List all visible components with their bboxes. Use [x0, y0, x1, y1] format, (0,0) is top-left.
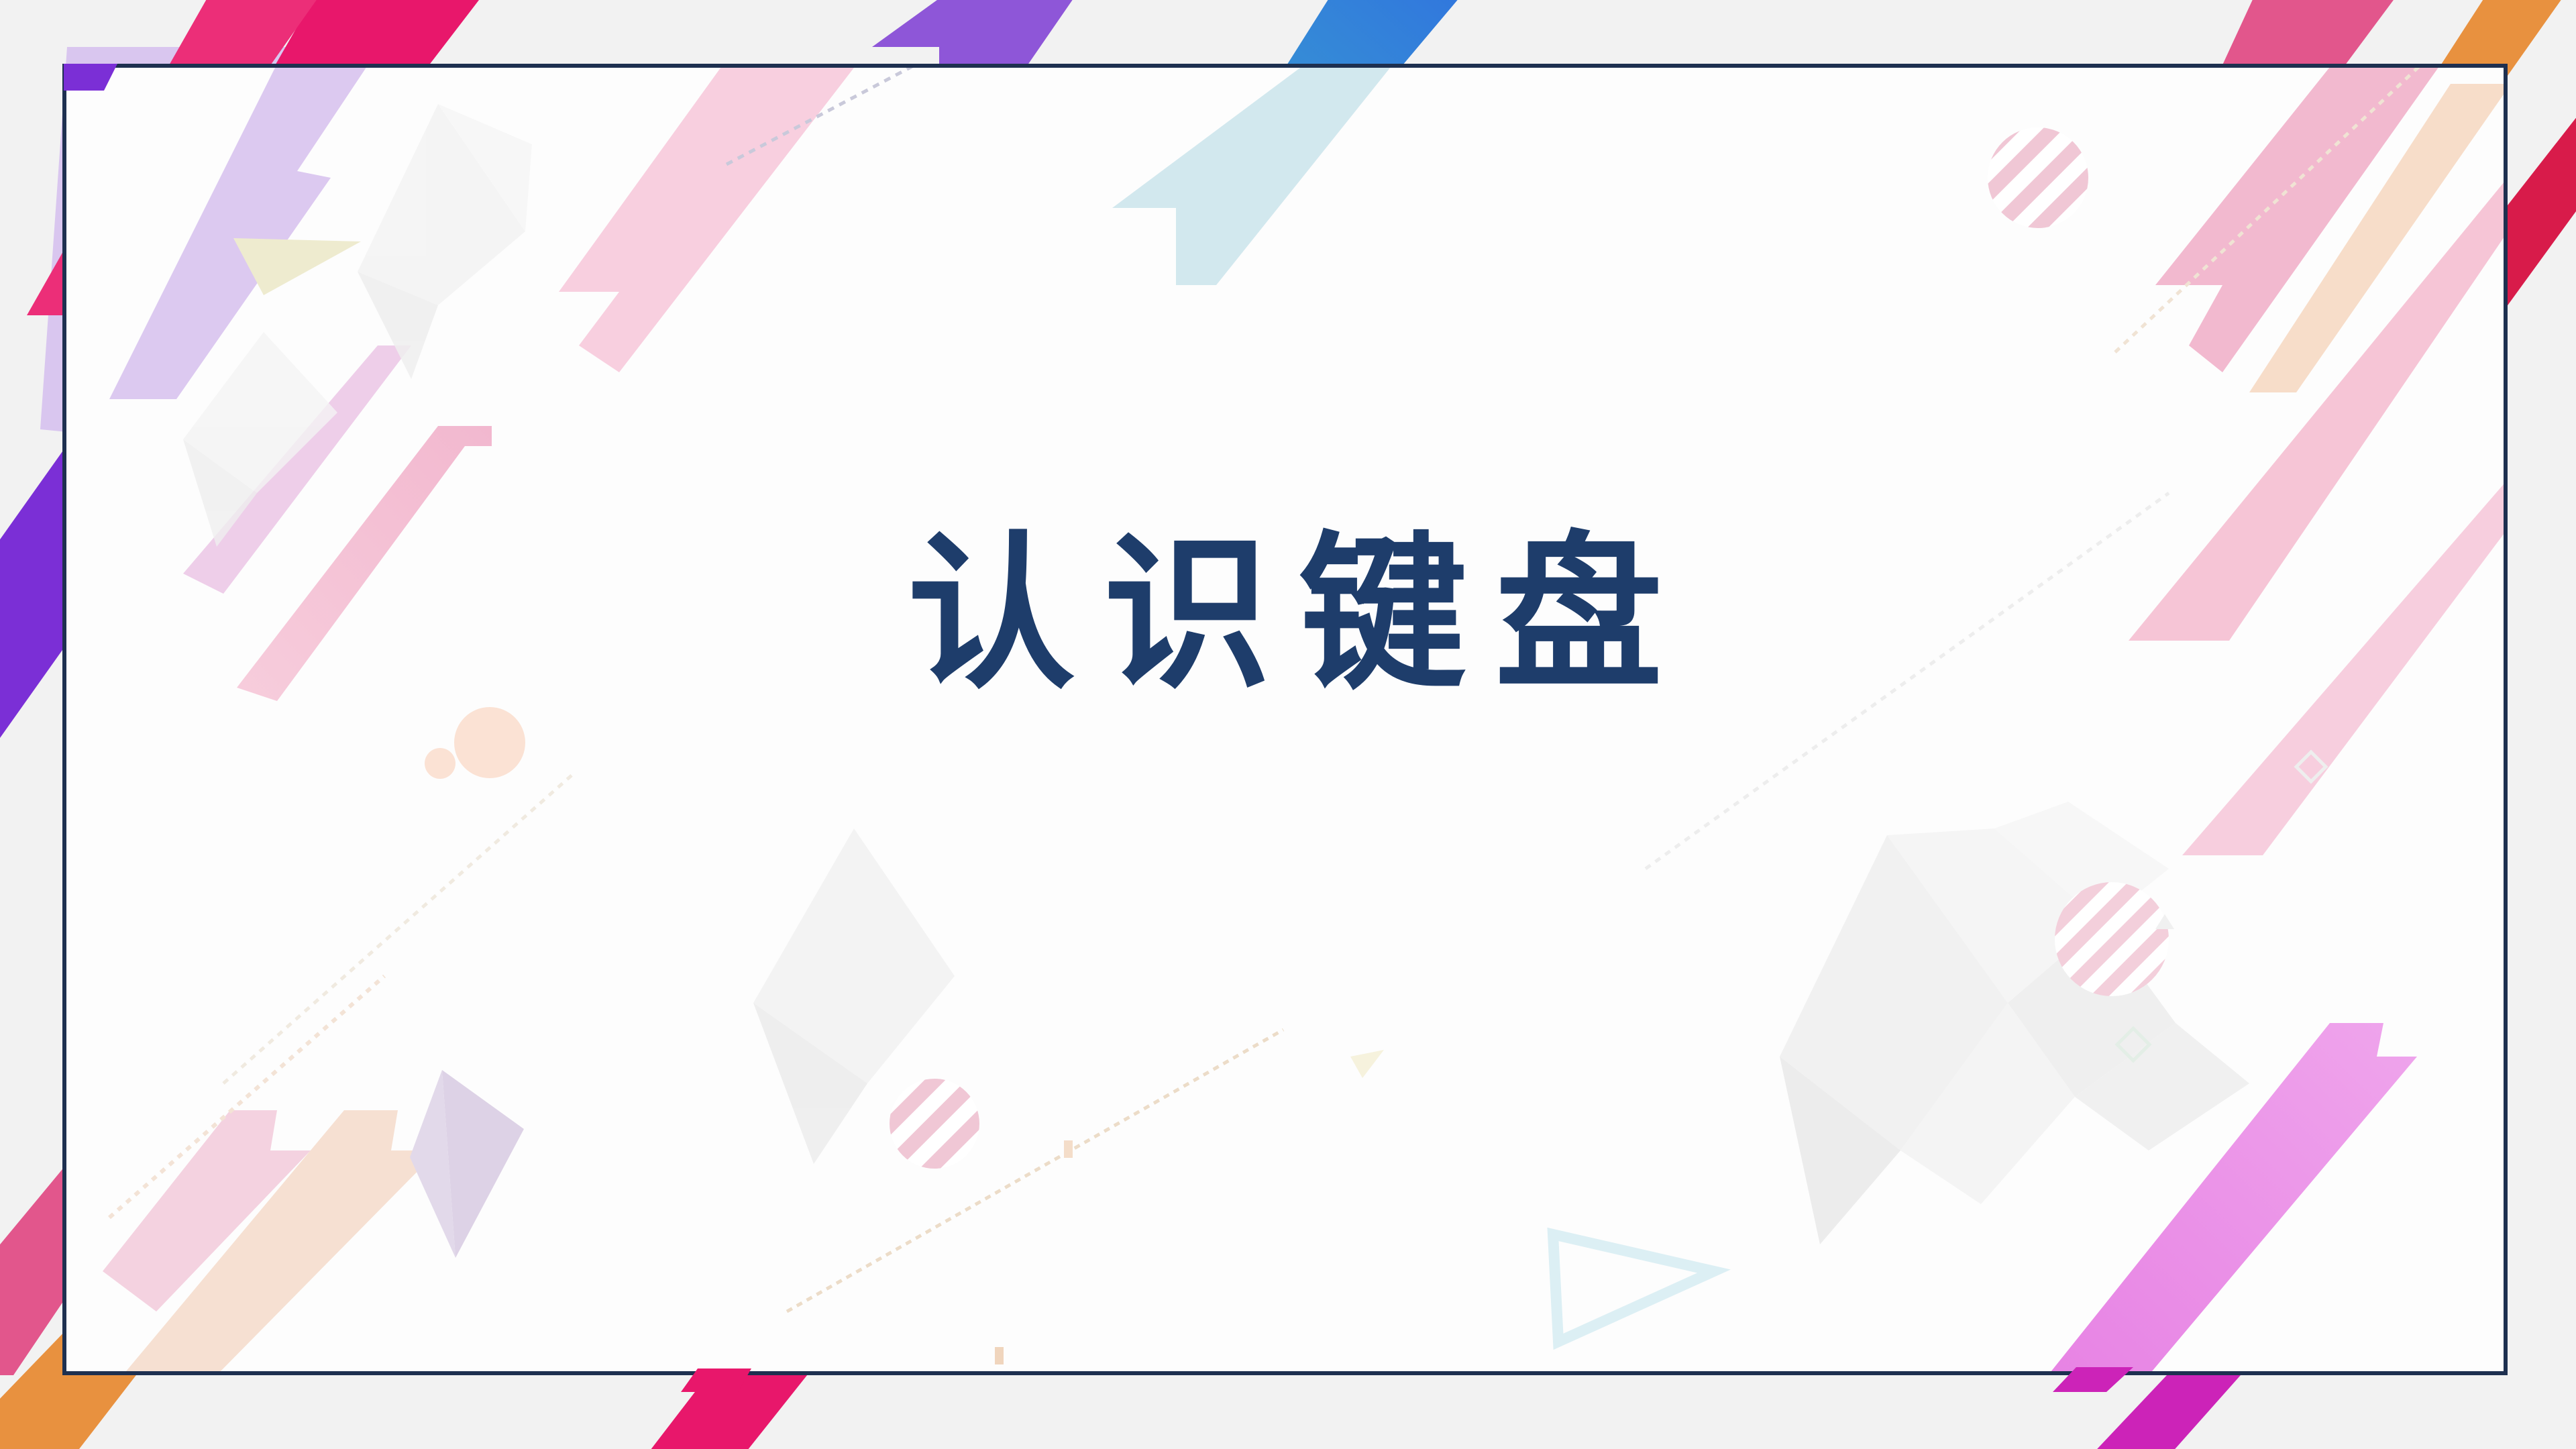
decoration-layer-inner	[62, 64, 2508, 1375]
dotted-line-bottomleft	[223, 775, 572, 1083]
ribbon-purple-bottom-right	[2428, 1382, 2576, 1449]
ribbon-pink-pale-top	[559, 64, 867, 372]
presentation-slide: 认识键盘	[0, 0, 2576, 1449]
dot-mark-2	[995, 1347, 1004, 1364]
dotted-line-right	[1646, 493, 2169, 869]
dot-mark-1	[1064, 1140, 1073, 1158]
ribbon-cyan-top-center	[1112, 64, 1404, 285]
striped-circle-mid-right	[2055, 882, 2169, 996]
polygon-crystal-bottom-right	[1780, 802, 2249, 1244]
striped-circle-top-right	[1988, 127, 2088, 228]
circle-peach-small	[425, 748, 455, 779]
circle-peach-large	[454, 707, 525, 778]
polygon-crystal-left	[358, 104, 532, 379]
triangle-mark-cream	[1350, 1050, 1384, 1078]
ribbon-lavender-card-left	[109, 64, 378, 399]
striped-circle-bottom	[890, 1079, 979, 1169]
ribbon-orchid-deep-bottom	[2053, 1375, 2241, 1449]
triangle-cyan-outline	[1553, 1234, 1714, 1342]
pyramid-lavender	[410, 1070, 524, 1258]
slide-card: 认识键盘	[62, 64, 2508, 1375]
